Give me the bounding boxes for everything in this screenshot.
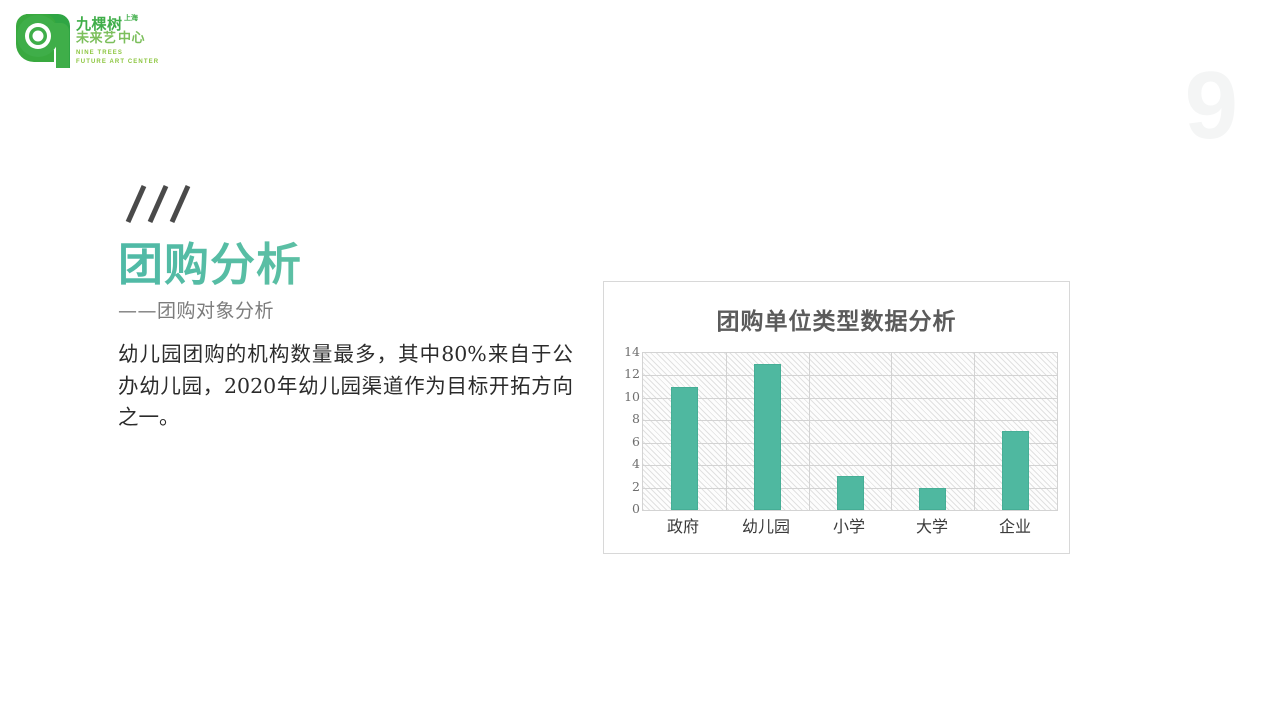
bar [1002, 431, 1029, 510]
y-axis-tick-label: 14 [624, 346, 640, 359]
brand-en-line2: FUTURE ART CENTER [76, 58, 159, 66]
y-axis-tick-label: 2 [632, 480, 640, 493]
brand-cn-line1: 九棵树 [76, 16, 123, 32]
gridline-vertical [974, 353, 975, 510]
page-number: 9 [1185, 58, 1238, 154]
gridline-vertical [726, 353, 727, 510]
gridline-vertical [891, 353, 892, 510]
nine-trees-roundel-icon [14, 12, 70, 68]
y-axis-tick-label: 0 [632, 503, 640, 516]
chart-title: 团购单位类型数据分析 [604, 302, 1069, 336]
gridline-horizontal [643, 420, 1057, 421]
x-axis-tick-label: 政府 [667, 519, 699, 535]
bar [919, 488, 946, 510]
y-axis-tick-label: 12 [624, 368, 640, 381]
chart-card: 团购单位类型数据分析 02468101214 政府幼儿园小学大学企业 [603, 281, 1070, 554]
x-axis-tick-label: 幼儿园 [742, 519, 790, 535]
bar [671, 387, 698, 510]
brand-cn-line2b: 中心 [118, 32, 145, 46]
section-subtitle: ——团购对象分析 [118, 296, 588, 323]
brand-wordmark: 九棵树 上海 未来艺 中心 NINE TREES FUTURE ART CENT… [76, 14, 206, 72]
y-axis-tick-label: 8 [632, 413, 640, 426]
x-axis-tick-label: 企业 [999, 519, 1031, 535]
brand-cn-superscript: 上海 [124, 15, 138, 23]
y-axis-tick-label: 10 [624, 391, 640, 404]
gridline-horizontal [643, 398, 1057, 399]
section-title: 团购分析 [118, 240, 588, 290]
three-slashes-icon [118, 182, 198, 226]
left-content-panel: 团购分析 ——团购对象分析 幼儿园团购的机构数量最多，其中80%来自于公办幼儿园… [118, 182, 588, 433]
bar [754, 364, 781, 510]
gridline-horizontal [643, 375, 1057, 376]
chart-body: 02468101214 政府幼儿园小学大学企业 [604, 344, 1069, 553]
brand-logo: 九棵树 上海 未来艺 中心 NINE TREES FUTURE ART CENT… [14, 12, 204, 74]
y-axis-tick-label: 6 [632, 435, 640, 448]
bar [837, 476, 864, 510]
gridline-vertical [809, 353, 810, 510]
body-paragraph: 幼儿园团购的机构数量最多，其中80%来自于公办幼儿园，2020年幼儿园渠道作为目… [118, 339, 573, 432]
y-axis: 02468101214 [610, 344, 640, 507]
x-axis-tick-label: 小学 [833, 519, 865, 535]
x-axis: 政府幼儿园小学大学企业 [642, 519, 1058, 547]
brand-cn-line2a: 未来艺 [76, 32, 117, 46]
x-axis-tick-label: 大学 [916, 519, 948, 535]
brand-en-line1: NINE TREES [76, 49, 123, 57]
gridline-horizontal [643, 443, 1057, 444]
gridline-horizontal [643, 465, 1057, 466]
y-axis-tick-label: 4 [632, 458, 640, 471]
plot-area [642, 352, 1058, 511]
